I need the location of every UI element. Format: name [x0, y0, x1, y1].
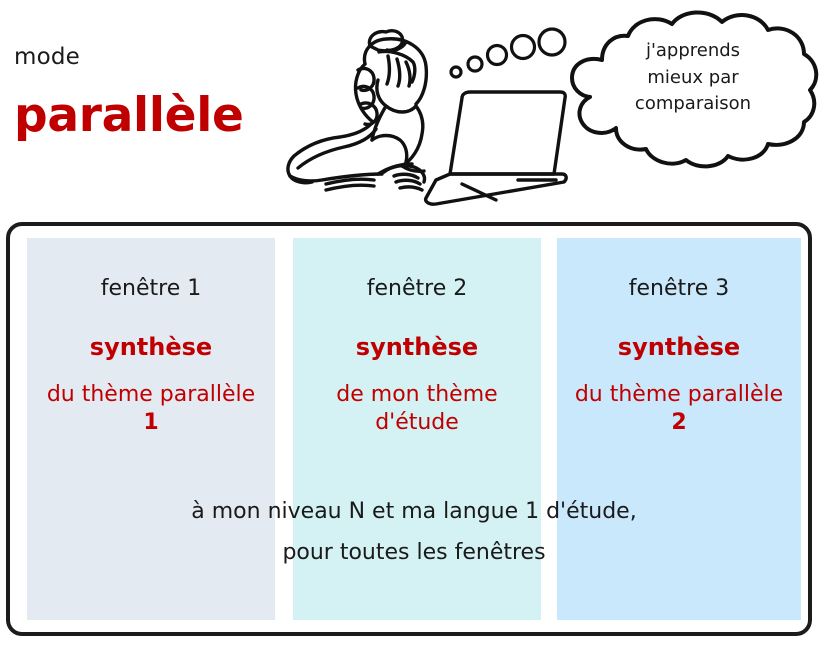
window-panel-3-label: fenêtre 3	[557, 276, 801, 301]
mode-title: parallèle	[14, 92, 244, 139]
thought-dots	[448, 22, 568, 82]
thought-dots-svg	[448, 22, 568, 82]
header-area: mode parallèle	[0, 0, 829, 222]
window-panel-2[interactable]: fenêtre 2 synthèse de mon thème d'étude	[293, 238, 541, 620]
window-panel-2-subtitle-emph: d'étude	[293, 409, 541, 437]
window-panel-2-subtitle: de mon thème d'étude	[293, 381, 541, 437]
window-panel-2-label: fenêtre 2	[293, 276, 541, 301]
window-panel-1-content: fenêtre 1 synthèse du thème parallèle 1	[27, 238, 275, 437]
window-panel-2-synthese: synthèse	[293, 333, 541, 361]
thought-dot-4	[512, 36, 535, 59]
thought-cloud-text: j'apprends mieux par comparaison	[610, 38, 776, 118]
mode-label: mode	[14, 44, 80, 70]
thought-cloud-line-1: j'apprends	[610, 38, 776, 65]
window-panel-1-synthese: synthèse	[27, 333, 275, 361]
thought-dot-2	[468, 57, 482, 71]
window-panel-3[interactable]: fenêtre 3 synthèse du thème parallèle 2	[557, 238, 801, 620]
window-panel-1-subtitle-emph: 1	[27, 409, 275, 437]
window-panel-1-subtitle-line: du thème parallèle	[27, 381, 275, 409]
window-panel-1-label: fenêtre 1	[27, 276, 275, 301]
window-panel-1-subtitle: du thème parallèle 1	[27, 381, 275, 437]
window-panel-3-subtitle-emph: 2	[557, 409, 801, 437]
window-panel-3-synthese: synthèse	[557, 333, 801, 361]
window-panel-2-subtitle-line: de mon thème	[293, 381, 541, 409]
thought-cloud-line-2: mieux par	[610, 65, 776, 92]
window-panel-3-subtitle-line: du thème parallèle	[557, 381, 801, 409]
window-panel-2-content: fenêtre 2 synthèse de mon thème d'étude	[293, 238, 541, 437]
thought-dot-3	[488, 46, 507, 65]
window-panel-3-subtitle: du thème parallèle 2	[557, 381, 801, 437]
window-panel-3-content: fenêtre 3 synthèse du thème parallèle 2	[557, 238, 801, 437]
window-panel-1[interactable]: fenêtre 1 synthèse du thème parallèle 1	[27, 238, 275, 620]
thought-dot-1	[451, 67, 461, 77]
thought-cloud-line-3: comparaison	[610, 91, 776, 118]
